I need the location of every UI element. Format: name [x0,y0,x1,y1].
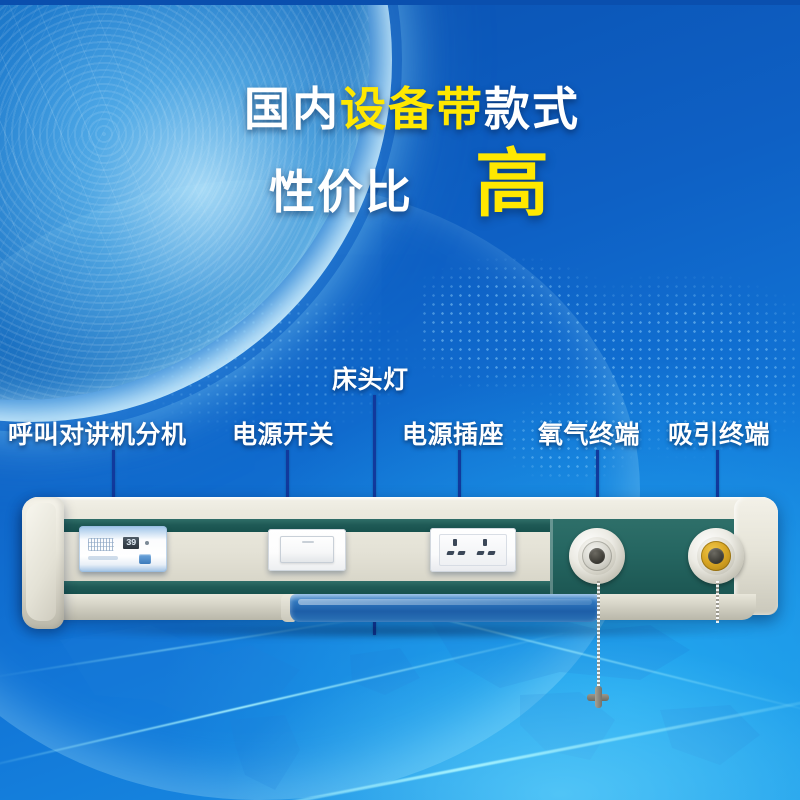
callout-label-power-socket: 电源插座 [402,415,504,451]
socket-face [439,534,507,566]
status-led-icon [145,541,149,545]
intercom-call-button[interactable] [139,554,151,564]
suction-port-cord [716,581,719,623]
lamp-pull-cord[interactable] [597,612,600,694]
callout-label-intercom: 呼叫对讲机分机 [8,415,187,451]
socket-pin-slot [487,551,495,555]
oxygen-terminal-port[interactable] [569,528,625,584]
power-socket-plate[interactable] [430,528,516,572]
callout-label-suction: 吸引终端 [668,415,770,451]
lamp-pull-cord-handle[interactable] [587,686,609,708]
callout-label-bed-lamp: 床头灯 [332,360,409,396]
power-switch-plate[interactable] [268,529,346,571]
socket-pin-slot [476,551,484,555]
speaker-grille-icon [88,538,114,551]
callout-layer: 呼叫对讲机分机 电源开关 床头灯 电源插座 氧气终端 吸引终端 [0,0,800,800]
intercom-display: 39 [123,537,139,549]
gas-panel-edge [550,519,553,594]
power-switch-rocker[interactable] [280,536,334,563]
product-banner: 国内设备带款式 性价比 高 呼叫对讲机分机 电源开关 床头灯 电源插座 氧气终端… [0,0,800,800]
end-cap-face [26,503,56,621]
nurse-call-intercom[interactable]: 39 [79,526,167,572]
port-socket-icon [708,548,724,564]
socket-pin-hole [453,539,457,546]
socket-pin-slot [446,551,454,555]
suction-terminal-port[interactable] [688,528,744,584]
callout-label-oxygen: 氧气终端 [538,415,640,451]
intercom-slot [88,556,118,560]
socket-pin-slot [457,551,465,555]
bed-head-unit: 39 [22,497,778,632]
port-socket-icon [589,548,605,564]
unit-end-cap-left [22,497,64,629]
socket-pin-hole [483,539,487,546]
callout-label-power-switch: 电源开关 [232,415,334,451]
bed-lamp-diffuser[interactable] [290,594,600,622]
